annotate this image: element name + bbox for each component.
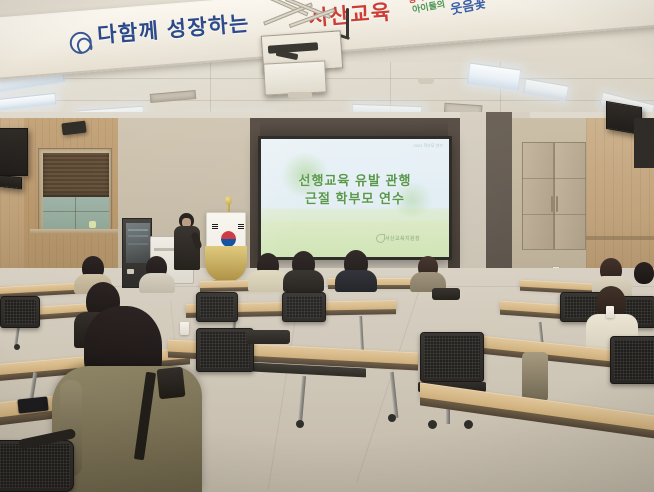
wood-wall-chair-rail [586,236,654,240]
window-sill [30,229,118,234]
cabinet-handle[interactable] [556,196,558,212]
mesh-office-chair[interactable] [610,336,654,384]
trigram-bar [212,226,218,227]
projector-body [263,60,327,95]
trigram-bar [238,226,244,227]
mesh-office-chair[interactable] [420,332,484,382]
shoulder-bag [157,367,186,400]
slide-corner-tag: 2024 학부모 연수 [413,143,443,149]
table-caster [296,420,304,428]
projector-mount-plate [288,92,312,98]
mesh-office-chair[interactable] [282,292,326,322]
mesh-office-chair[interactable] [0,440,74,492]
projected-slide: 선행교육 유발 관행 근절 학부모 연수 서산교육지원청 2024 학부모 연수 [261,139,449,257]
window-blinds [43,153,109,197]
trigram-bar [238,228,244,229]
mesh-office-chair[interactable] [0,296,40,328]
taeguk-symbol [221,231,236,247]
slide-title-line-2: 근절 학부모 연수 [261,188,449,207]
slide-footer-logo: 서산교육지원청 [385,235,420,242]
handwriting-line-3: 웃음꽃 [448,0,487,18]
mesh-office-chair[interactable] [196,292,238,322]
bag-on-table [432,288,460,300]
ceiling-grid-line [0,100,654,101]
cabinet-door-left[interactable] [522,142,554,250]
table-caster [388,414,396,422]
banner-handwriting: 행복한 아이들의 웃음꽃 [405,0,499,26]
window-frame [38,148,112,232]
screen-soffit [246,118,462,138]
attendee-body [283,270,324,292]
trigram-bar [212,224,218,225]
window-plant [89,221,96,228]
window-rail [43,211,109,212]
attendee-body [335,270,377,292]
smoke-detector-icon [418,78,434,84]
handwriting-line-2: 아이들의 [411,0,446,16]
chair-caster [428,420,437,429]
paper-cup [180,322,189,335]
seminar-room-photo: 다함께 성장하는 서산교육 행복한 아이들의 웃음꽃 [0,0,654,492]
trigram-bar [212,228,218,229]
attendee-body [139,273,175,293]
corner-display-panel [634,118,654,168]
bag-on-table [246,330,290,344]
projection-screen: 선행교육 유발 관행 근절 학부모 연수 서산교육지원청 2024 학부모 연수 [258,136,452,260]
slide-title-line-1: 선행교육 유발 관행 [261,170,449,189]
trigram-bar [238,224,244,225]
education-office-logo-icon [69,31,93,55]
cabinet-panel-line [522,178,586,179]
cabinet-panel-line [522,214,586,215]
attendee-head [634,262,654,284]
table-caster [14,344,20,350]
window-mullion [75,197,76,229]
ceiling-grid-line [0,78,654,79]
rack-indicator [127,269,134,274]
coffee-cup [606,306,614,318]
left-wall-speaker-base [0,175,22,190]
left-wall-speaker [0,128,28,176]
attendee-body [248,270,288,292]
cabinet-handle[interactable] [551,196,553,212]
right-wall-dark-column [486,112,512,284]
cabinet-door-right[interactable] [554,142,586,250]
banner-text-blue: 다함께 성장하는 [96,7,251,49]
coat-on-chair [522,352,548,402]
chair-caster [464,420,473,429]
